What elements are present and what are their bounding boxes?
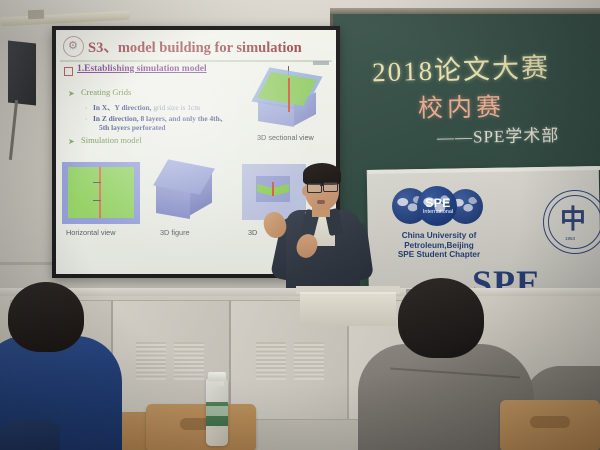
cabinet-vent-icon [174,342,204,380]
blackboard-frame [330,8,600,14]
chair-back [146,404,256,450]
audience-member-left-head [8,282,84,352]
seal-year: 1953 [558,236,582,241]
cabinet-vent-icon [136,342,166,380]
spe-logo-word: SPE [418,196,458,210]
audience-member-center-head [398,278,484,358]
bottle-label-highlight [206,406,228,416]
chair-back [500,400,600,450]
cabinet-vent-icon [294,342,324,380]
fracture-line [288,78,290,112]
cabinet-seam [229,300,231,420]
slide-title-rule [60,60,332,62]
bullet-dot-icon-2: · [85,116,87,123]
fracture-line [99,167,101,218]
slide-title: S3、model building for simulation [88,36,302,57]
slide-bullet-2: In X、Y direction, grid size is 1cm [93,102,200,113]
caption-fourth-view: 3D [248,228,257,237]
eyeglasses-bridge [320,185,323,186]
diagram-3d-sectional-view [252,64,330,130]
caption-3d-figure: 3D figure [160,228,190,237]
chalk-text-signature: ——SPE学术部 [437,121,560,148]
slide-bullet-1: Creating Grids [81,87,131,97]
chalk-text-title: 2018论文大赛 [372,46,551,90]
caption-horizontal-view: Horizontal view [66,228,115,237]
slide-crest-icon: ⚙ [63,36,84,57]
diagram-3d-figure [152,160,222,226]
checkbox-icon [64,67,73,76]
diagram-label-tag [313,61,329,65]
banner-chapter-text: China University ofPetroleum,BeijingSPE … [378,231,500,260]
pipe-bracket [28,10,44,20]
slide-bullet-4: 5th layers perforated [99,123,166,132]
eyeglasses-right-lens [323,182,338,192]
spe-international-logo-icon: SPE International [392,186,490,226]
well-marker-2 [93,200,101,201]
chalk-text-subtitle: 校内赛 [418,87,506,125]
podium [300,292,396,326]
spe-logo-subword: International [416,209,460,215]
diagram-horizontal-view [62,162,140,224]
seal-monogram: 中 [560,205,590,235]
bullet-arrow-icon-1: ➤ [68,89,75,98]
slide-bullet-2-sub: grid size is 1cm [152,103,200,112]
slide-bullet-2-main: In X、Y direction, [93,103,152,112]
well-marker-1 [93,182,101,183]
presenter-mouth [317,200,325,204]
fracture-line [272,182,274,196]
audience-member-foreground [0,420,60,450]
chair-handle-cutout [530,416,570,428]
caption-3d-sectional-view: 3D sectional view [257,133,314,142]
grid-pay-zone [68,167,134,218]
slide-section-heading: 1.Establishing simulation model [77,64,207,74]
presentation-photo: 2018论文大赛 校内赛 ——SPE学术部 SPE International … [0,0,600,450]
bullet-dot-icon-1: · [85,105,87,112]
cabinet-vent-icon [256,342,286,380]
bullet-arrow-icon-2: ➤ [68,137,75,146]
slide-bullet-5: Simulation model [81,135,142,145]
bottle-cap [208,372,226,381]
wall-mounted-box [8,41,36,106]
